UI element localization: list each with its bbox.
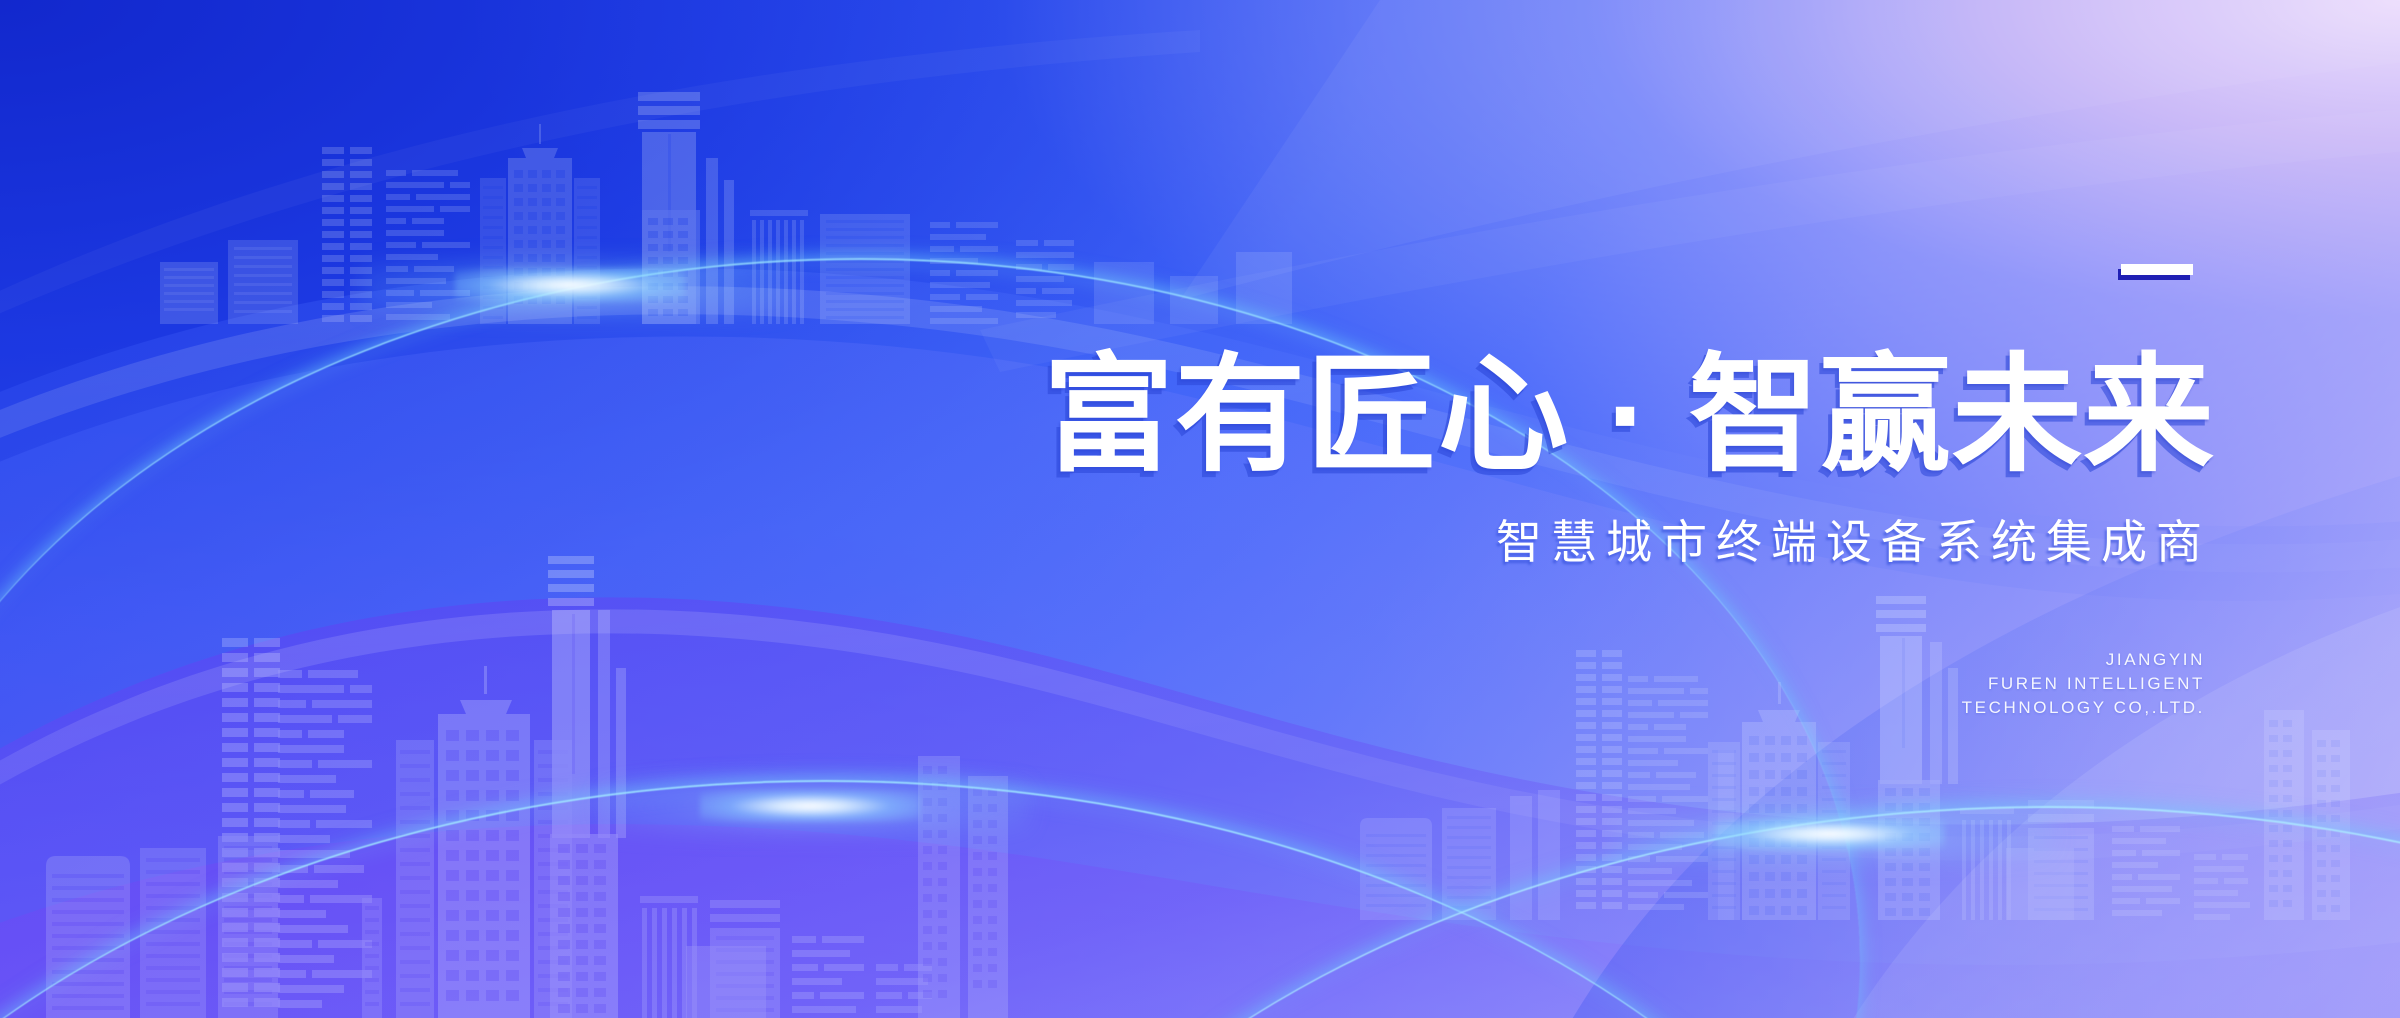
banner-canvas: 富有匠心 · 智赢未来 智慧城市终端设备系统集成商 JIANGYIN FUREN… bbox=[0, 0, 2400, 1018]
company-line-3: TECHNOLOGY CO,.LTD. bbox=[1962, 696, 2205, 720]
page-title: 富有匠心 · 智赢未来 bbox=[991, 352, 2215, 480]
horizontal-dash-icon bbox=[2121, 264, 2193, 275]
headline-block: 富有匠心 · 智赢未来 智慧城市终端设备系统集成商 bbox=[1015, 262, 2215, 572]
company-name-block: JIANGYIN FUREN INTELLIGENT TECHNOLOGY CO… bbox=[1962, 648, 2205, 720]
company-line-1: JIANGYIN bbox=[1962, 648, 2205, 672]
page-subtitle: 智慧城市终端设备系统集成商 bbox=[1015, 506, 2215, 572]
company-line-2: FUREN INTELLIGENT bbox=[1962, 672, 2205, 696]
city-skyline-icon bbox=[10, 548, 1010, 1018]
city-skyline-icon bbox=[1330, 590, 2390, 920]
